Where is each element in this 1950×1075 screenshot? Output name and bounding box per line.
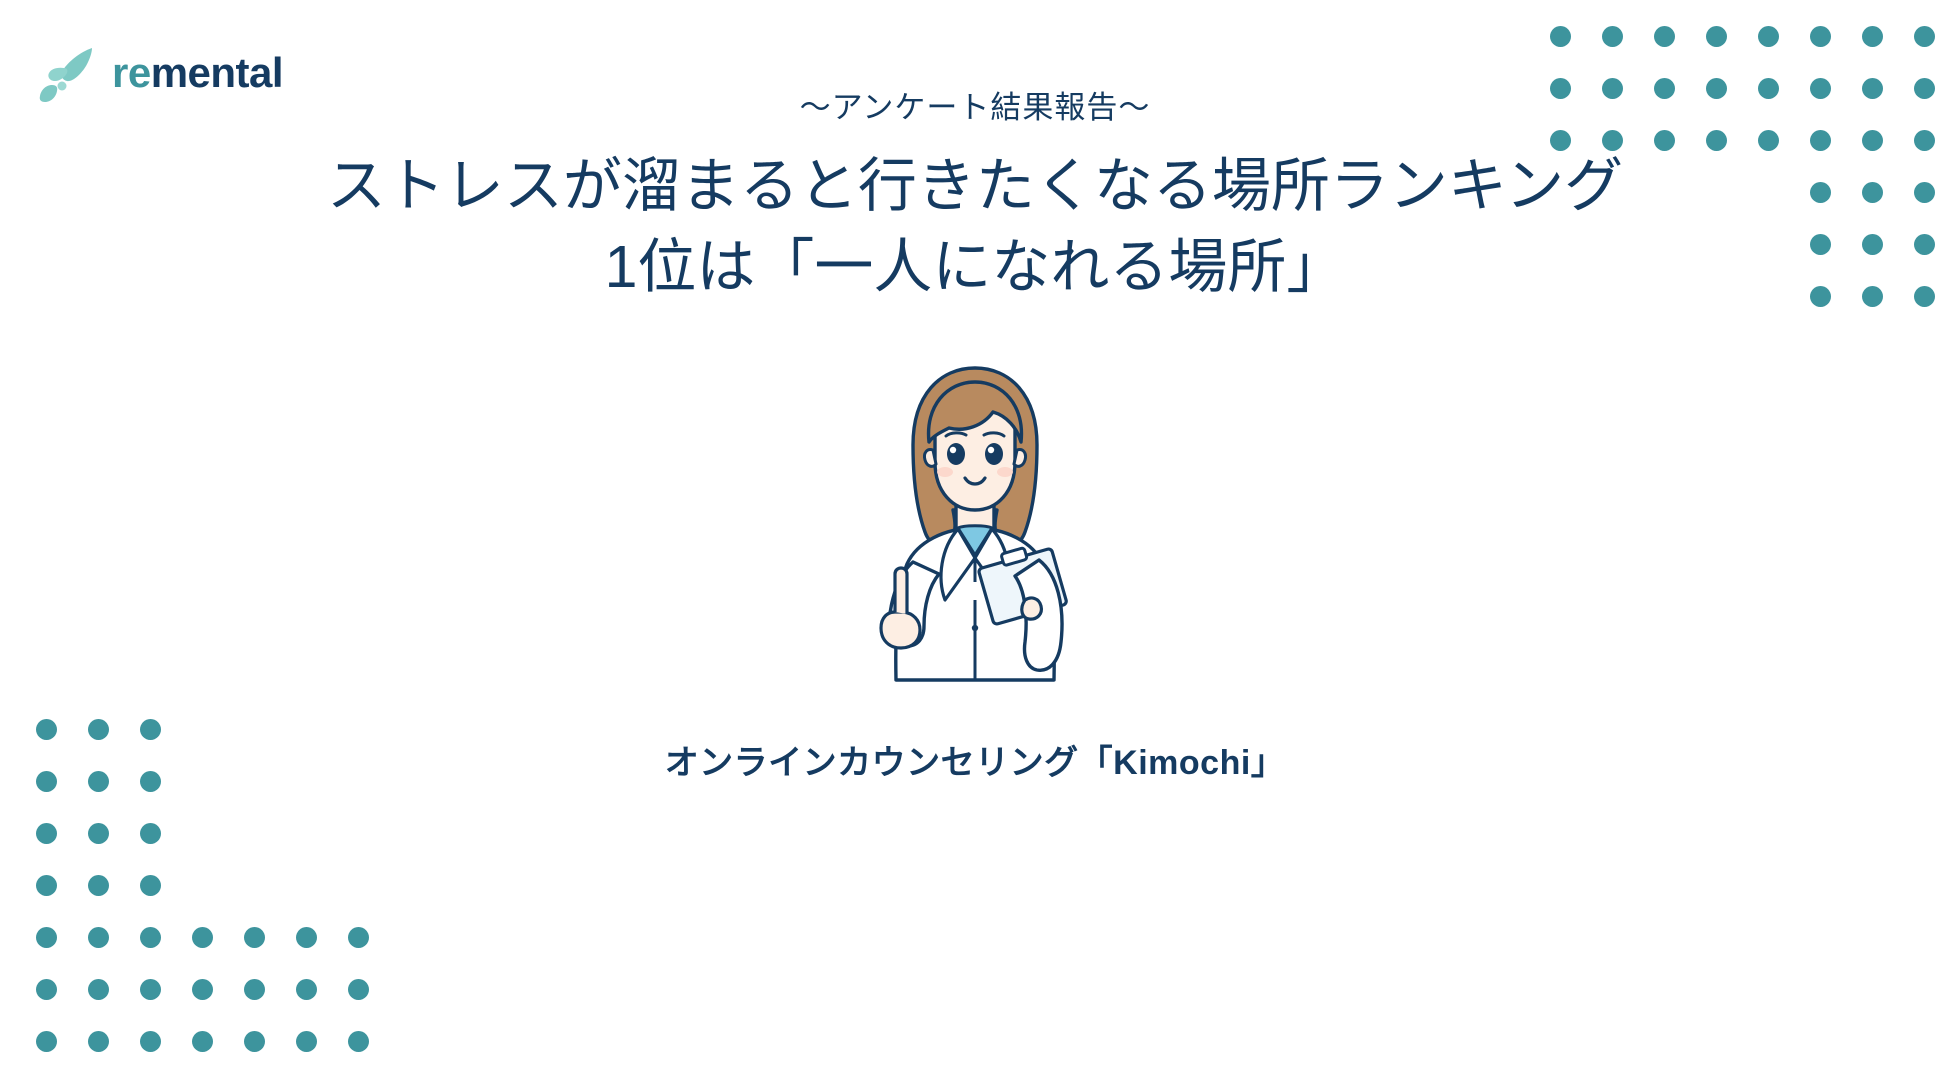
dot-cell (124, 859, 176, 911)
dot-cell (280, 1015, 332, 1067)
dot-icon (36, 979, 57, 1000)
dot-cell-empty (176, 859, 228, 911)
dot-cell (20, 859, 72, 911)
dot-cell-empty (228, 807, 280, 859)
dot-cell (228, 911, 280, 963)
dot-cell (1742, 10, 1794, 62)
dot-cell-empty (228, 859, 280, 911)
dot-cell (124, 1015, 176, 1067)
eye-right-icon (985, 443, 1003, 465)
dot-icon (1602, 26, 1623, 47)
dot-icon (88, 823, 109, 844)
dot-cell (280, 963, 332, 1015)
dot-cell-empty (384, 963, 436, 1015)
dot-icon (1706, 26, 1727, 47)
dot-icon (296, 823, 317, 844)
dot-cell (1846, 10, 1898, 62)
dot-icon (1550, 26, 1571, 47)
dot-cell (1534, 10, 1586, 62)
dot-cell (124, 911, 176, 963)
dot-icon (1914, 26, 1935, 47)
dot-icon (1810, 26, 1831, 47)
dot-icon (192, 823, 213, 844)
dot-icon (348, 927, 369, 948)
dot-cell (1794, 10, 1846, 62)
dot-icon (140, 875, 161, 896)
dot-cell (20, 807, 72, 859)
dot-cell (72, 963, 124, 1015)
dot-cell (72, 859, 124, 911)
dot-cell-empty (384, 807, 436, 859)
dot-icon (400, 875, 421, 896)
dot-icon (400, 979, 421, 1000)
slide-canvas: remental 〜アンケート結果報告〜 ストレスが溜まると行きたくなる場所ラン… (0, 0, 1950, 1075)
dot-icon (348, 875, 369, 896)
dot-icon (36, 927, 57, 948)
dot-icon (296, 979, 317, 1000)
dot-icon (400, 1031, 421, 1052)
dot-icon (192, 979, 213, 1000)
dot-cell-empty (384, 911, 436, 963)
dot-cell (72, 807, 124, 859)
dot-cell-empty (280, 807, 332, 859)
eye-left-icon (947, 443, 965, 465)
dot-cell (20, 963, 72, 1015)
dot-icon (36, 823, 57, 844)
dot-icon (244, 979, 265, 1000)
dot-cell (332, 911, 384, 963)
dot-icon (400, 823, 421, 844)
dot-icon (296, 927, 317, 948)
dot-icon (36, 1031, 57, 1052)
dot-icon (244, 875, 265, 896)
dot-cell-empty (332, 859, 384, 911)
dot-cell (228, 1015, 280, 1067)
dot-cell (228, 963, 280, 1015)
dot-icon (140, 823, 161, 844)
dot-cell (20, 1015, 72, 1067)
dot-icon (348, 979, 369, 1000)
dot-icon (1862, 26, 1883, 47)
dot-cell (1690, 10, 1742, 62)
dot-cell (1638, 10, 1690, 62)
dot-cell-empty (280, 859, 332, 911)
dot-icon (88, 979, 109, 1000)
dot-icon (1758, 26, 1779, 47)
dot-icon (140, 979, 161, 1000)
dot-icon (296, 1031, 317, 1052)
dot-icon (244, 823, 265, 844)
dot-cell (1898, 10, 1950, 62)
dot-cell (72, 1015, 124, 1067)
dot-icon (192, 927, 213, 948)
dot-icon (88, 927, 109, 948)
dot-icon (1654, 26, 1675, 47)
dot-cell-empty (332, 807, 384, 859)
dot-icon (244, 1031, 265, 1052)
dot-cell (1586, 10, 1638, 62)
dot-icon (400, 927, 421, 948)
title-line-1: ストレスが溜まると行きたくなる場所ランキング (0, 146, 1950, 227)
dot-cell (124, 963, 176, 1015)
dot-icon (192, 875, 213, 896)
dot-icon (88, 875, 109, 896)
dot-cell (72, 911, 124, 963)
dot-cell-empty (176, 807, 228, 859)
dot-cell (176, 911, 228, 963)
eyebrow-label: 〜アンケート結果報告〜 (0, 82, 1950, 127)
dot-cell (176, 963, 228, 1015)
dot-icon (88, 1031, 109, 1052)
dot-cell (332, 963, 384, 1015)
dot-cell (20, 911, 72, 963)
dot-cell-empty (384, 1015, 436, 1067)
dot-icon (348, 823, 369, 844)
dot-icon (296, 875, 317, 896)
dot-icon (36, 875, 57, 896)
service-caption: オンラインカウンセリング「Kimochi」 (0, 735, 1950, 784)
dot-cell (332, 1015, 384, 1067)
dot-cell (176, 1015, 228, 1067)
dot-icon (140, 1031, 161, 1052)
title-line-2: 1位は「一人になれる場所」 (0, 227, 1950, 308)
dot-icon (140, 927, 161, 948)
dot-cell-empty (384, 859, 436, 911)
dot-icon (348, 1031, 369, 1052)
female-counselor-pointing-up-illustration (825, 350, 1125, 710)
dot-cell (124, 807, 176, 859)
dot-icon (192, 1031, 213, 1052)
dot-cell (280, 911, 332, 963)
dot-icon (244, 927, 265, 948)
page-title: ストレスが溜まると行きたくなる場所ランキング 1位は「一人になれる場所」 (0, 146, 1950, 309)
